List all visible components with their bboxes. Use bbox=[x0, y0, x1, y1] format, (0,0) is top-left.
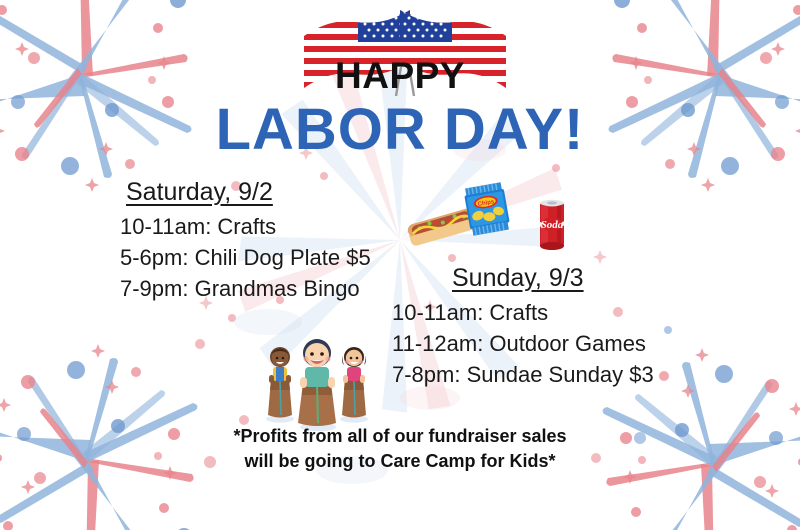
schedule-event: 10-11am: Crafts bbox=[120, 211, 371, 242]
page-title-happy: HAPPY bbox=[0, 57, 800, 95]
kids-sack-race-icon bbox=[258, 333, 378, 431]
schedule-day-heading: Sunday, 9/3 bbox=[392, 264, 654, 293]
footer-line-1: *Profits from all of our fundraiser sale… bbox=[0, 424, 800, 449]
schedule-event: 7-8pm: Sundae Sunday $3 bbox=[392, 359, 654, 390]
footer-note: *Profits from all of our fundraiser sale… bbox=[0, 424, 800, 474]
soda-label: Soda bbox=[541, 219, 564, 231]
chips-bag-icon: Chips bbox=[462, 181, 512, 238]
schedule-day-heading: Saturday, 9/2 bbox=[120, 178, 371, 207]
footer-line-2: will be going to Care Camp for Kids* bbox=[0, 449, 800, 474]
schedule-event: 7-9pm: Grandmas Bingo bbox=[120, 273, 371, 304]
schedule-event: 11-12am: Outdoor Games bbox=[392, 328, 654, 359]
schedule-event: 5-6pm: Chili Dog Plate $5 bbox=[120, 242, 371, 273]
schedule-event: 10-11am: Crafts bbox=[392, 297, 654, 328]
schedule-sunday: Sunday, 9/3 10-11am: Crafts 11-12am: Out… bbox=[392, 264, 654, 390]
schedule-saturday: Saturday, 9/2 10-11am: Crafts 5-6pm: Chi… bbox=[120, 178, 371, 304]
labor-day-flyer: HAPPY LABOR DAY! Saturday, 9/2 10-11am: … bbox=[0, 0, 800, 530]
page-title-labor-day: LABOR DAY! bbox=[0, 99, 800, 161]
soda-can-icon: Soda bbox=[532, 196, 572, 254]
